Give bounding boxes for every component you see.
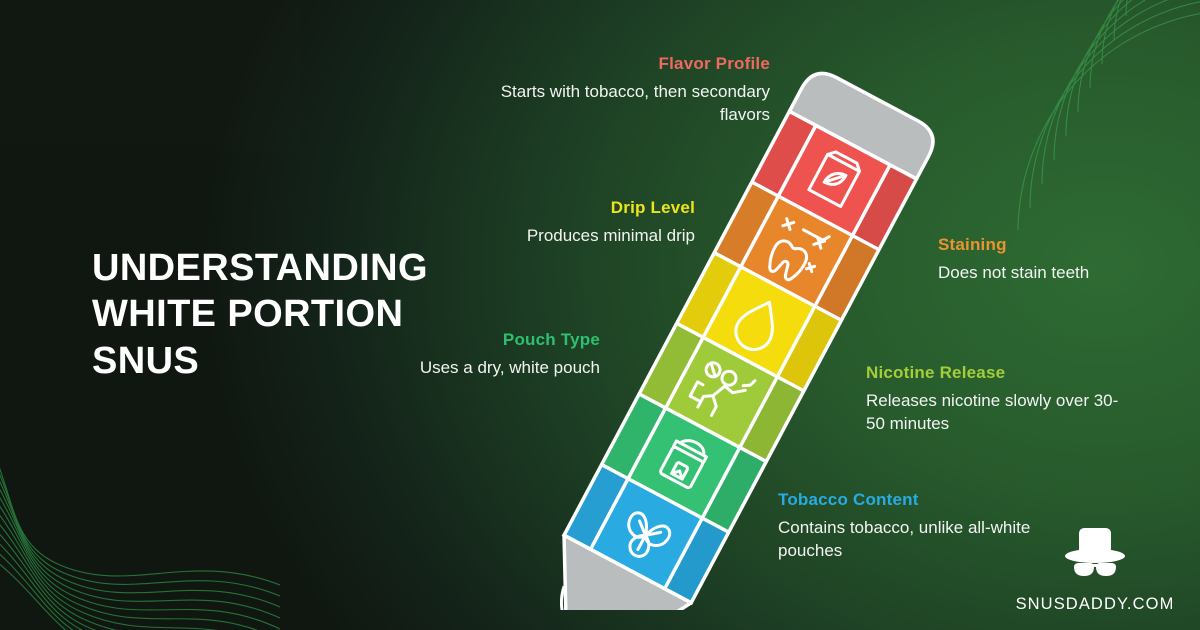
callout-title-staining: Staining bbox=[938, 235, 1188, 255]
callout-title-drip-level: Drip Level bbox=[435, 198, 695, 218]
callout-title-flavor-profile: Flavor Profile bbox=[470, 54, 770, 74]
callout-title-pouch-type: Pouch Type bbox=[350, 330, 600, 350]
callout-description-staining: Does not stain teeth bbox=[938, 262, 1188, 285]
noise-texture-overlay bbox=[0, 0, 300, 150]
callout-description-nicotine-release: Releases nicotine slowly over 30-50 minu… bbox=[866, 390, 1136, 436]
callout-flavor-profile: Flavor Profile Starts with tobacco, then… bbox=[470, 54, 770, 127]
callout-staining: Staining Does not stain teeth bbox=[938, 235, 1188, 285]
brand-wordmark: SNUSDADDY.COM bbox=[1010, 595, 1180, 614]
callout-description-drip-level: Produces minimal drip bbox=[435, 225, 695, 248]
callout-title-tobacco-content: Tobacco Content bbox=[778, 490, 1068, 510]
detective-hat-sunglasses-icon bbox=[1052, 526, 1138, 586]
decorative-arcs-top-right bbox=[940, 0, 1200, 230]
decorative-waves-bottom-left bbox=[0, 390, 280, 630]
callout-nicotine-release: Nicotine Release Releases nicotine slowl… bbox=[866, 363, 1136, 436]
callout-title-nicotine-release: Nicotine Release bbox=[866, 363, 1136, 383]
callout-pouch-type: Pouch Type Uses a dry, white pouch bbox=[350, 330, 600, 380]
brand-logo: SNUSDADDY.COM bbox=[1010, 526, 1180, 614]
callout-drip-level: Drip Level Produces minimal drip bbox=[435, 198, 695, 248]
callout-description-flavor-profile: Starts with tobacco, then secondary flav… bbox=[470, 81, 770, 127]
infographic-canvas: UNDERSTANDING WHITE PORTION SNUS bbox=[0, 0, 1200, 630]
callout-description-pouch-type: Uses a dry, white pouch bbox=[350, 357, 600, 380]
